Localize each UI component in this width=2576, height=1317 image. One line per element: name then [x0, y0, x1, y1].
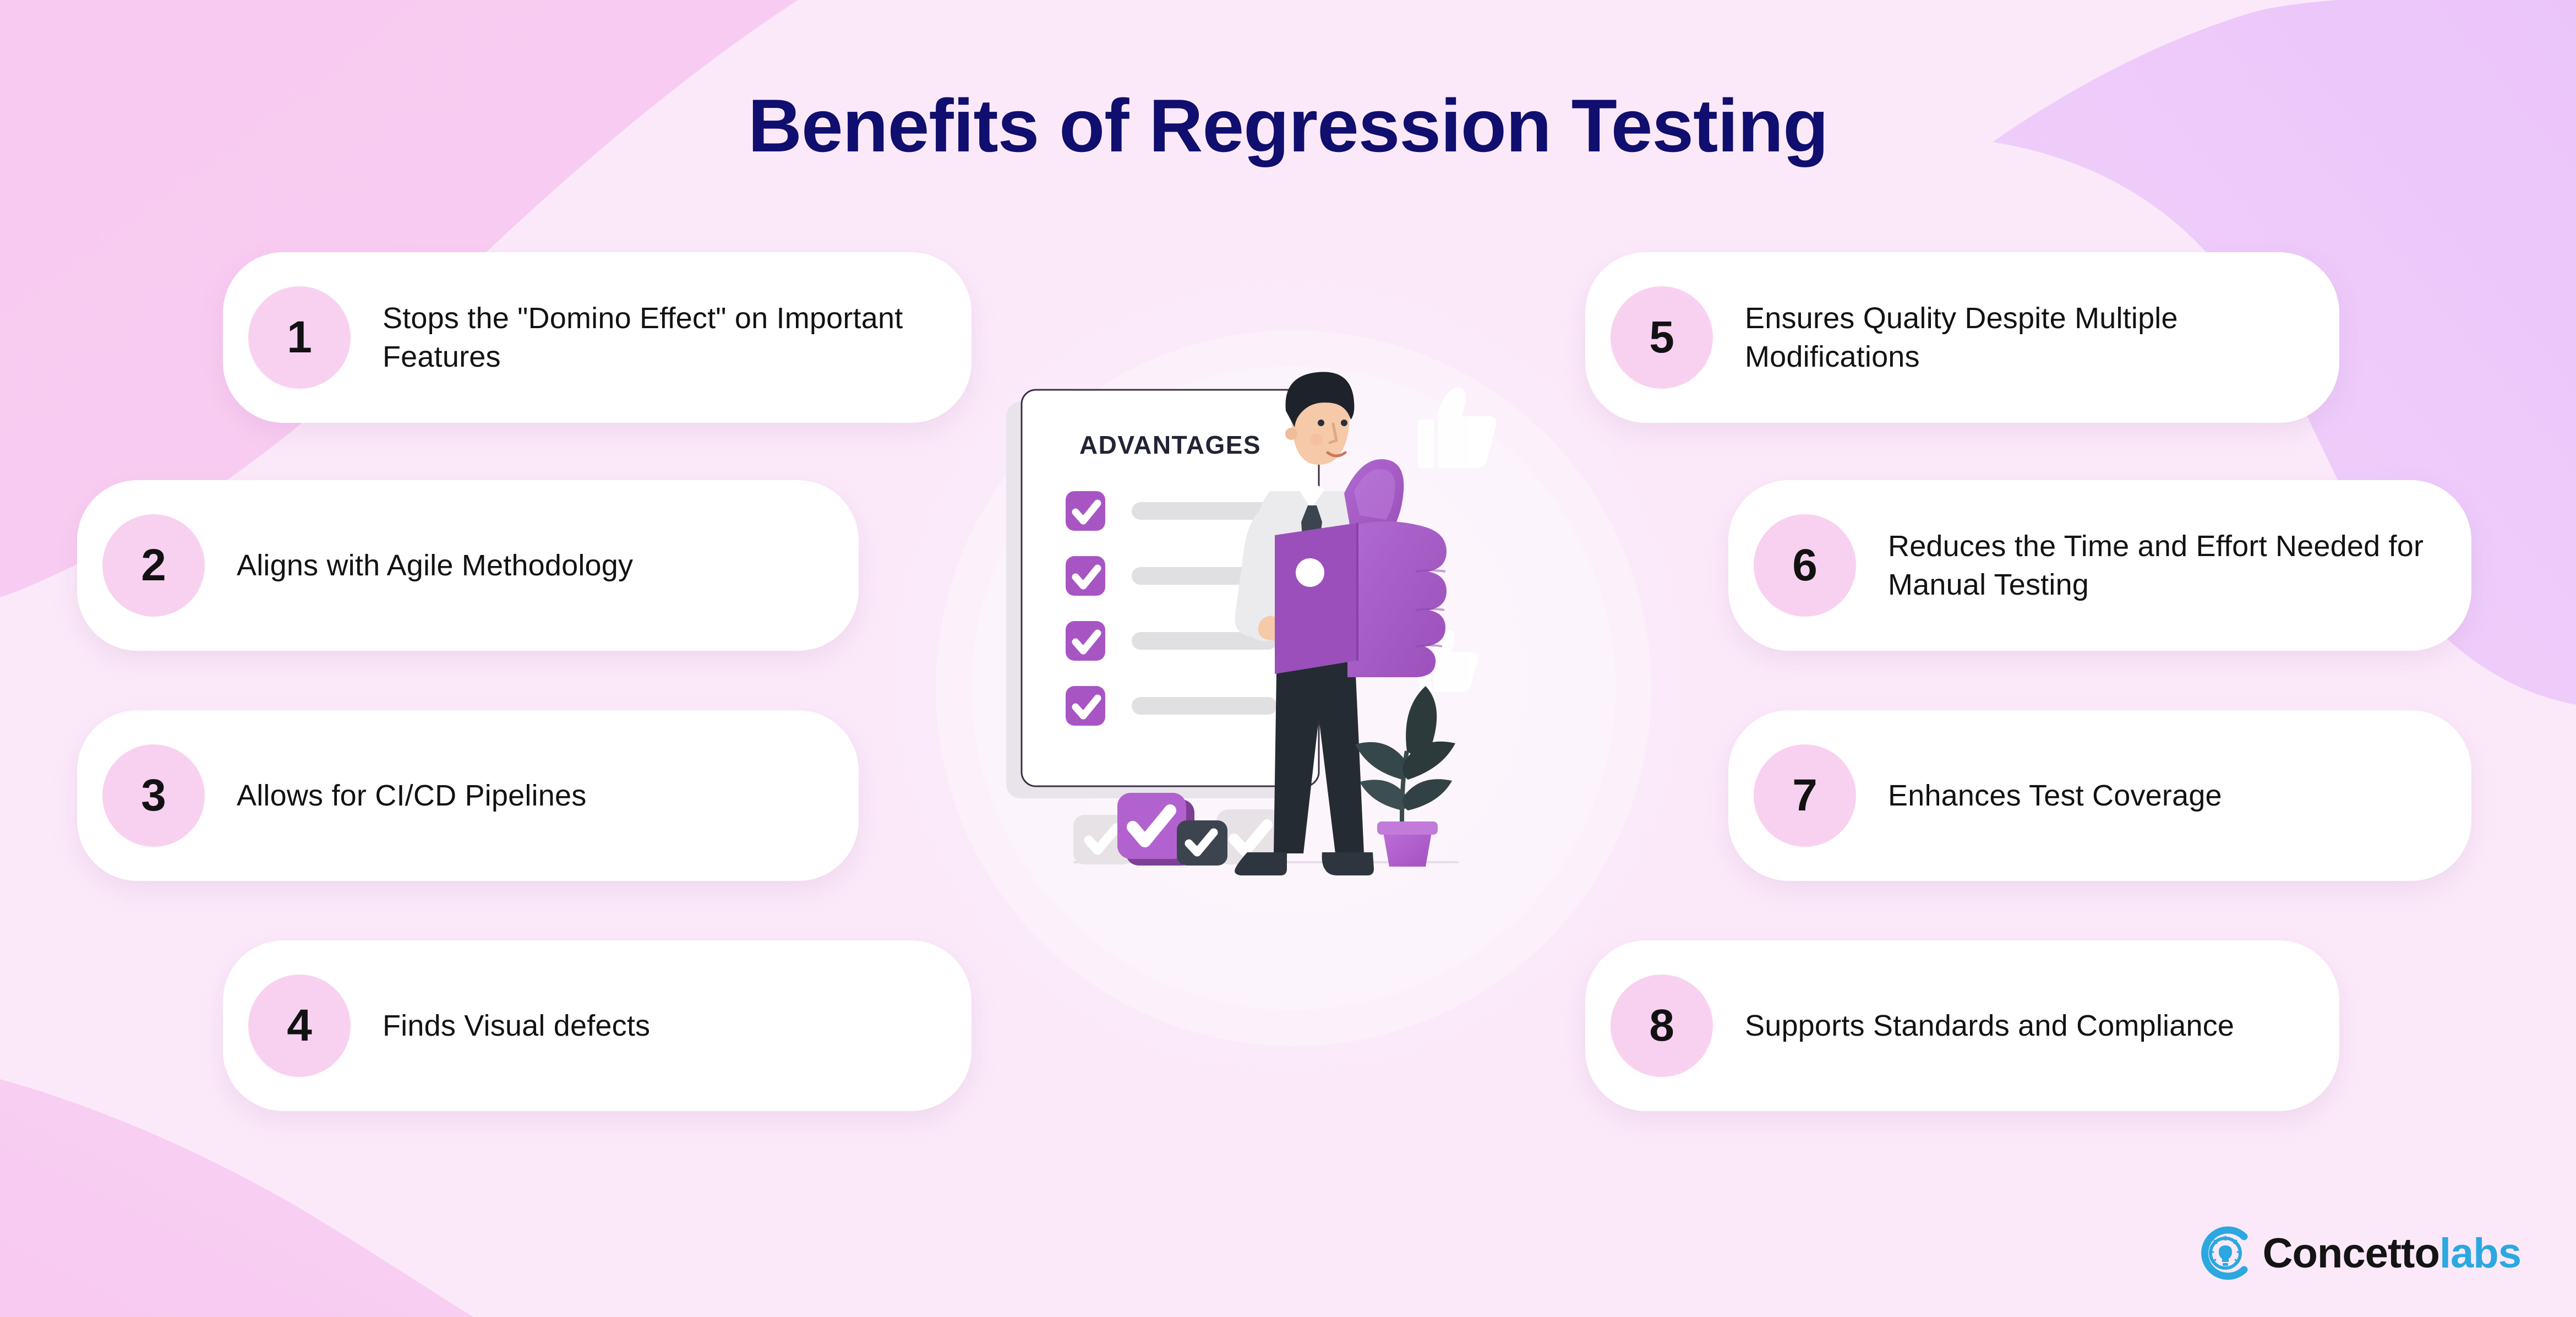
logo-text-secondary: labs — [2439, 1229, 2521, 1277]
benefit-card-1[interactable]: 1 Stops the "Domino Effect" on Important… — [223, 252, 972, 423]
benefit-label: Reduces the Time and Effort Needed for M… — [1888, 527, 2471, 604]
benefit-card-8[interactable]: 8 Supports Standards and Compliance — [1585, 940, 2339, 1111]
benefit-number-badge: 6 — [1754, 514, 1856, 617]
benefit-number-badge: 4 — [248, 975, 351, 1077]
benefit-card-7[interactable]: 7 Enhances Test Coverage — [1728, 710, 2471, 881]
benefit-label: Ensures Quality Despite Multiple Modific… — [1745, 299, 2339, 376]
benefit-label: Stops the "Domino Effect" on Important F… — [383, 299, 972, 376]
concettolabs-logo[interactable]: Concettolabs — [2196, 1223, 2521, 1283]
benefit-number-badge: 7 — [1754, 744, 1856, 847]
benefit-number-badge: 3 — [102, 744, 205, 847]
benefit-number-badge: 8 — [1611, 975, 1713, 1077]
benefit-number-badge: 1 — [248, 286, 351, 389]
benefit-label: Enhances Test Coverage — [1888, 776, 2250, 815]
benefit-card-6[interactable]: 6 Reduces the Time and Effort Needed for… — [1728, 480, 2471, 651]
benefit-number-badge: 5 — [1611, 286, 1713, 389]
page-title: Benefits of Regression Testing — [0, 83, 2576, 168]
document-heading: ADVANTAGES — [1079, 431, 1261, 459]
benefit-card-3[interactable]: 3 Allows for CI/CD Pipelines — [77, 710, 859, 881]
benefit-card-4[interactable]: 4 Finds Visual defects — [223, 940, 972, 1111]
benefit-label: Supports Standards and Compliance — [1745, 1006, 2262, 1045]
benefit-label: Aligns with Agile Methodology — [237, 546, 661, 585]
potted-plant — [1355, 686, 1455, 867]
thumbs-up-icon — [1418, 388, 1497, 468]
benefit-label: Allows for CI/CD Pipelines — [237, 776, 614, 815]
center-illustration: ADVANTAGES — [914, 297, 1662, 1068]
benefit-label: Finds Visual defects — [383, 1006, 678, 1045]
checkbox-tile — [1177, 820, 1227, 866]
lightbulb-c-monogram-icon — [2196, 1223, 2255, 1283]
logo-text-primary: Concetto — [2263, 1229, 2439, 1277]
benefit-number-badge: 2 — [102, 514, 205, 617]
benefit-card-2[interactable]: 2 Aligns with Agile Methodology — [77, 480, 859, 651]
benefit-card-5[interactable]: 5 Ensures Quality Despite Multiple Modif… — [1585, 252, 2339, 423]
